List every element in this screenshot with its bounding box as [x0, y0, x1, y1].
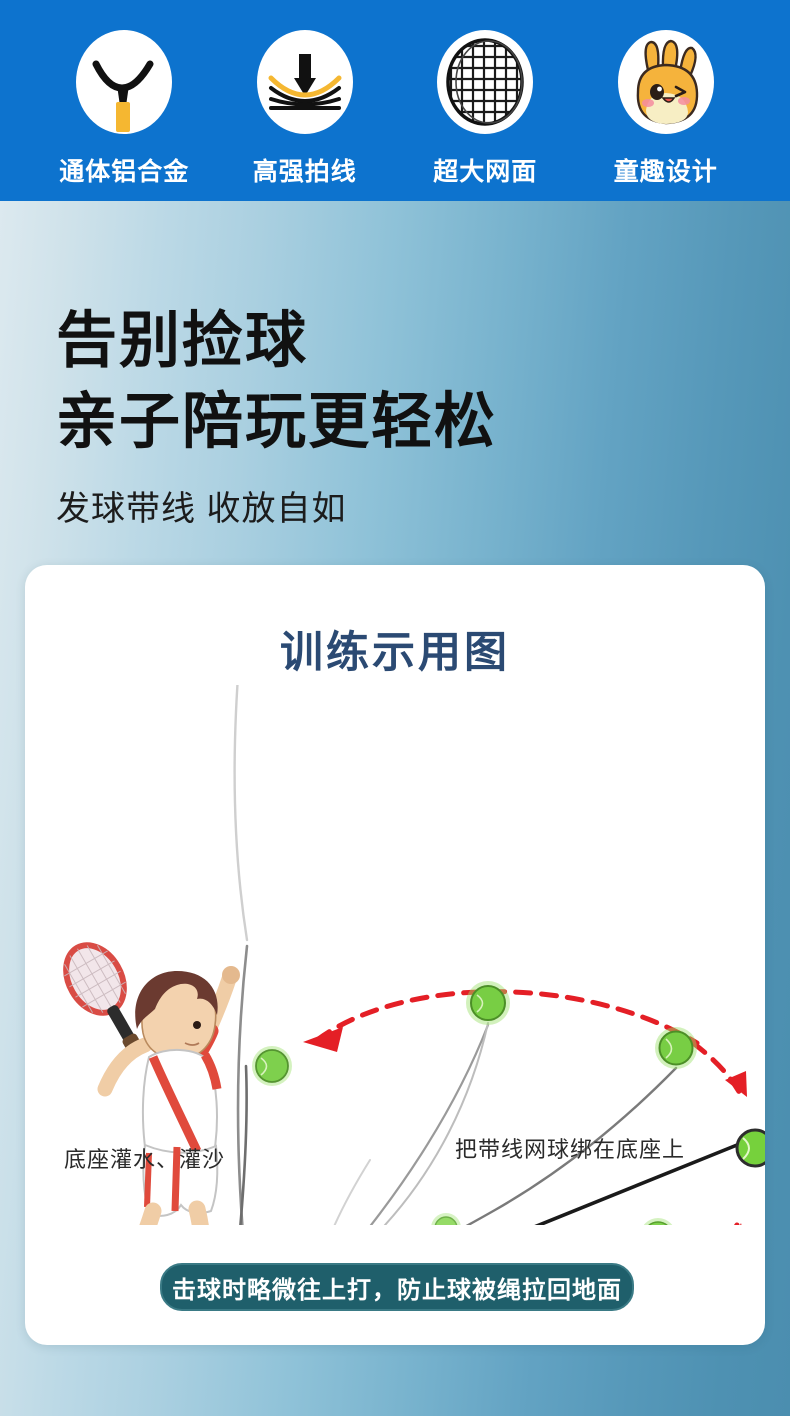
feature-item-mesh[interactable]: 超大网面: [410, 30, 560, 188]
feature-label: 高强拍线: [253, 152, 357, 188]
feature-band: 通体铝合金 高强拍线: [0, 0, 790, 201]
caption-tie-ball: 把带线网球绑在底座上: [455, 1132, 685, 1164]
racket-mesh-icon: [437, 30, 533, 134]
feature-item-strings[interactable]: 高强拍线: [230, 30, 380, 188]
tennis-ball-group: [252, 981, 765, 1225]
tip-badge-label: 击球时略微往上打，防止球被绳拉回地面: [172, 1270, 622, 1305]
hero-subtitle: 发球带线 收放自如: [56, 481, 696, 530]
highlighted-tennis-ball: [737, 1130, 765, 1166]
feature-label: 超大网面: [433, 152, 537, 188]
training-diagram-card: 训练示用图: [25, 565, 765, 1345]
feature-label: 通体铝合金: [59, 152, 189, 188]
racket-handle-icon: [76, 30, 172, 134]
feature-item-aluminium[interactable]: 通体铝合金: [49, 30, 199, 188]
bunny-mascot-icon: [618, 30, 714, 134]
caption-base-fill: 底座灌水、灌沙: [64, 1142, 225, 1174]
feature-item-design[interactable]: 童趣设计: [591, 30, 741, 188]
string-tension-arrow-icon: [257, 30, 353, 134]
hero-section: 告别捡球 亲子陪玩更轻松 发球带线 收放自如: [56, 300, 696, 530]
hero-headline-line2: 亲子陪玩更轻松: [56, 381, 696, 462]
card-title: 训练示用图: [25, 618, 765, 680]
tennis-player-figure: [54, 935, 240, 1225]
feature-label: 童趣设计: [614, 152, 718, 188]
tip-badge: 击球时略微往上打，防止球被绳拉回地面: [160, 1263, 634, 1311]
hero-headline-line1: 告别捡球: [56, 300, 696, 381]
